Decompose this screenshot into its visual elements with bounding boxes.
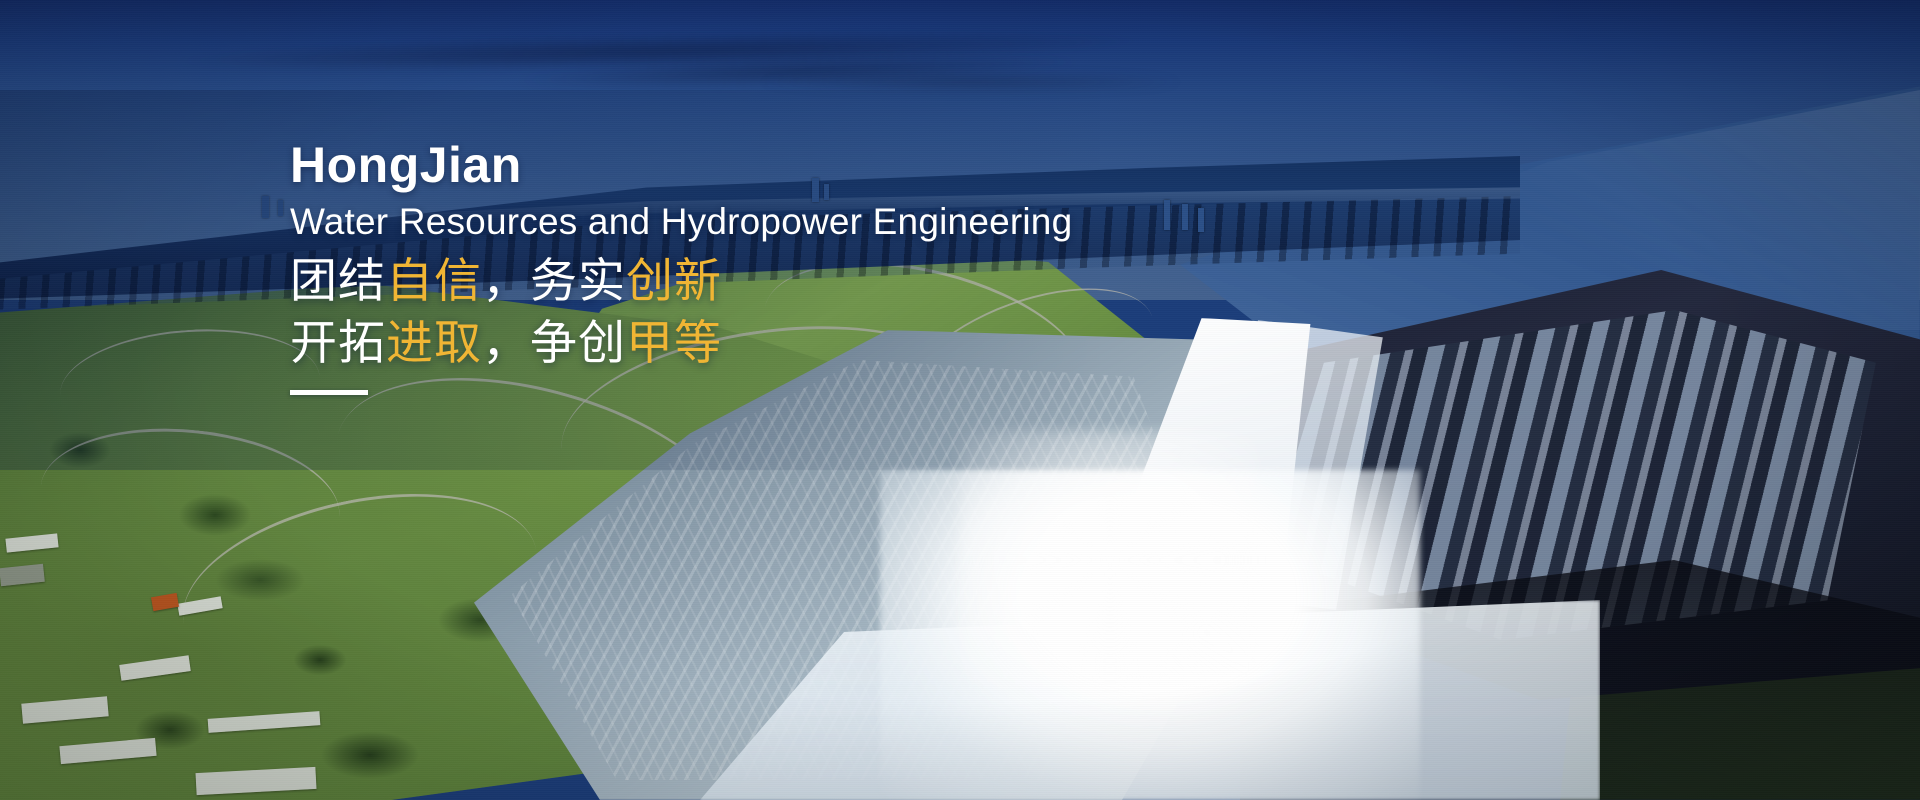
- english-tagline: Water Resources and Hydropower Engineeri…: [290, 201, 1290, 244]
- chinese-slogan-line-2: 开拓进取，争创甲等: [290, 312, 1290, 374]
- dam-gantry-tower: [278, 200, 283, 216]
- slogan1-segment-1: 团结: [290, 254, 386, 307]
- slogan1-highlight-2: 创新: [626, 254, 722, 307]
- slogan2-highlight-2: 甲等: [626, 316, 722, 369]
- slogan2-segment-2: ，争创: [482, 316, 626, 369]
- hero-banner: HongJian Water Resources and Hydropower …: [0, 0, 1920, 800]
- slogan1-segment-2: ，务实: [482, 254, 626, 307]
- dam-gantry-tower: [262, 196, 269, 218]
- brand-name: HongJian: [290, 138, 1290, 193]
- slogan2-highlight-1: 进取: [386, 316, 482, 369]
- slogan2-segment-1: 开拓: [290, 316, 386, 369]
- chinese-slogan-line-1: 团结自信，务实创新: [290, 250, 1290, 312]
- slogan1-highlight-1: 自信: [386, 254, 482, 307]
- water-spray-plume-core: [960, 430, 1260, 690]
- distant-shoreline-3: [760, 72, 1180, 92]
- hero-text-block: HongJian Water Resources and Hydropower …: [290, 138, 1290, 395]
- accent-underline-rule: [290, 390, 368, 395]
